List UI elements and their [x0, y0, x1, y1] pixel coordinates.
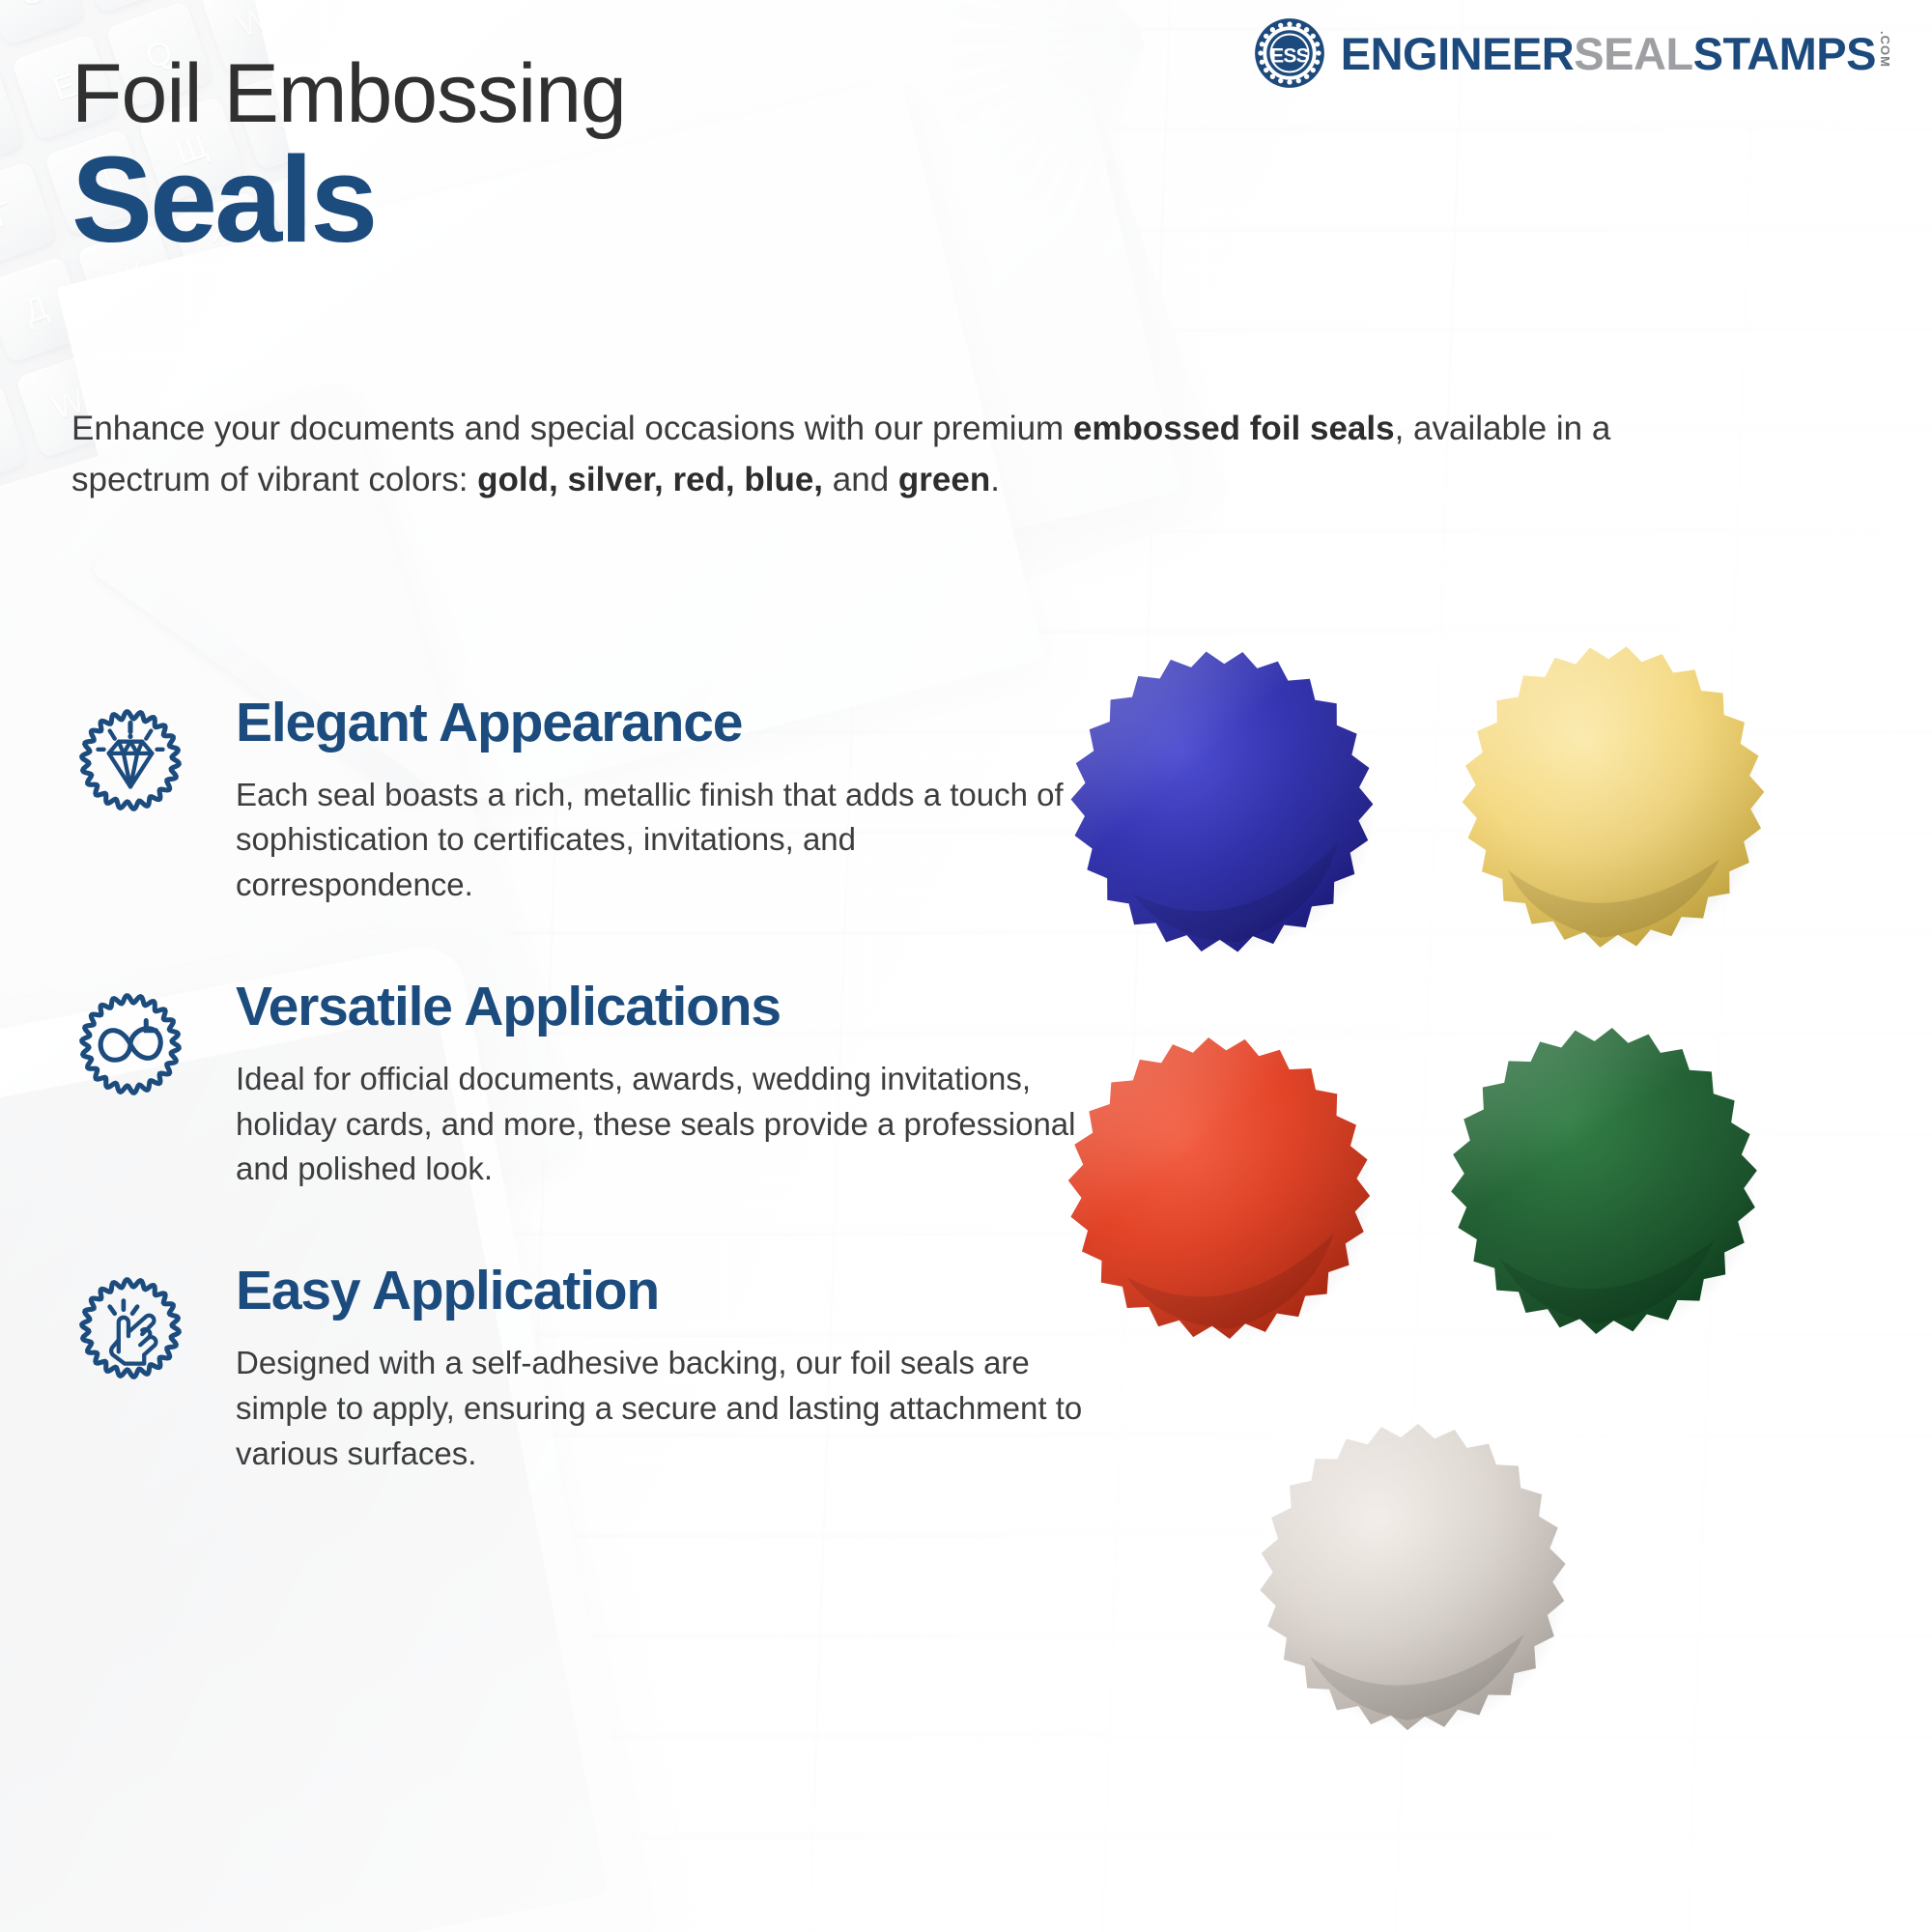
ess-gear-logo-icon: ESS: [1252, 15, 1327, 91]
feature-body: Ideal for official documents, awards, we…: [236, 1057, 1095, 1193]
infographic-page: ЙЦУКЕНГШЩЗХЪФЫВАПРОЛДЖЭЯЧСМИТЬБЮЁQWERTYЙ…: [0, 0, 1932, 1932]
foil-seal-gold[interactable]: [1435, 619, 1791, 975]
diamond-badge-icon: [71, 701, 189, 819]
feature-list: Elegant Appearance Each seal boasts a ri…: [71, 694, 1095, 1546]
brand-word-stamps: STAMPS: [1693, 28, 1876, 79]
feature-body: Each seal boasts a rich, metallic finish…: [236, 773, 1095, 909]
intro-bold-colors: gold, silver, red, blue,: [477, 461, 823, 498]
foil-seal-green[interactable]: [1429, 1006, 1779, 1356]
intro-seg-1: Enhance your documents and special occas…: [71, 410, 1073, 447]
svg-text:ESS: ESS: [1270, 44, 1310, 67]
feature-title: Easy Application: [236, 1262, 1095, 1321]
foil-seal-gallery: [1063, 638, 1893, 1826]
intro-seg-4: .: [990, 461, 1000, 498]
feature-title: Versatile Applications: [236, 978, 1095, 1037]
feature-title: Elegant Appearance: [236, 694, 1095, 753]
foil-seal-blue[interactable]: [1041, 621, 1403, 982]
hand-tap-badge-icon: [71, 1269, 189, 1387]
foil-seal-silver[interactable]: [1240, 1405, 1585, 1749]
intro-seg-3: and: [823, 461, 898, 498]
intro-paragraph: Enhance your documents and special occas…: [71, 404, 1627, 505]
title-line-1: Foil Embossing: [71, 50, 626, 137]
brand-word-engineer: ENGINEER: [1341, 28, 1575, 79]
feature-item-easy-application: Easy Application Designed with a self-ad…: [71, 1262, 1095, 1476]
infinity-loop-badge-icon: [71, 985, 189, 1103]
feature-body: Designed with a self-adhesive backing, o…: [236, 1341, 1095, 1477]
foil-seal-red[interactable]: [1044, 1013, 1395, 1364]
brand-wordmark: ENGINEERSEALSTAMPS.COM: [1341, 31, 1891, 76]
brand-logo[interactable]: ESS ENGINEERSEALSTAMPS.COM: [1252, 15, 1891, 91]
feature-item-versatile-applications: Versatile Applications Ideal for officia…: [71, 978, 1095, 1192]
intro-bold-embossed-foil-seals: embossed foil seals: [1073, 410, 1395, 447]
page-title: Foil Embossing Seals: [71, 50, 626, 261]
brand-word-seal: SEAL: [1574, 28, 1692, 79]
brand-tld: .COM: [1879, 31, 1891, 68]
intro-bold-green: green: [898, 461, 990, 498]
title-line-2: Seals: [71, 139, 626, 261]
feature-item-elegant-appearance: Elegant Appearance Each seal boasts a ri…: [71, 694, 1095, 908]
